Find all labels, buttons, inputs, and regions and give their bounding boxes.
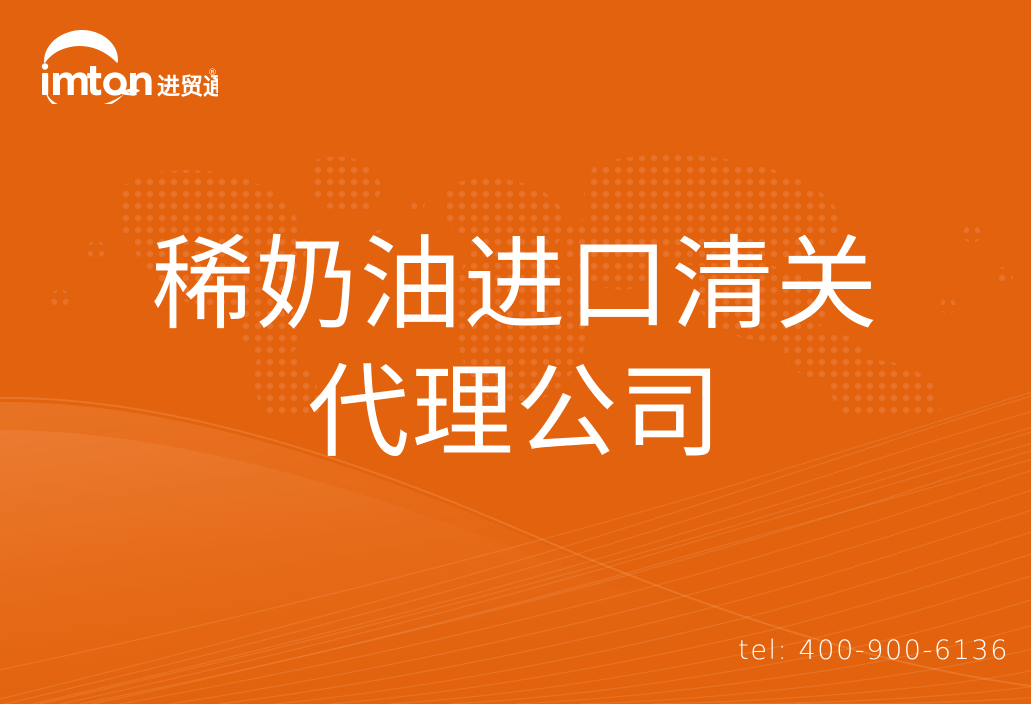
globe-arc-icon — [44, 30, 118, 63]
logo-chinese-name: 进贸通 ® — [157, 68, 218, 100]
contact-phone[interactable]: tel: 400-900-6136 — [738, 635, 1009, 666]
headline-line-2: 代理公司 — [0, 350, 1031, 478]
trademark-symbol: ® — [208, 68, 217, 78]
company-logo[interactable]: 进贸通 ® — [38, 28, 218, 104]
page-title: 稀奶油进口清关 代理公司 — [0, 222, 1031, 478]
promo-banner: 进贸通 ® 稀奶油进口清关 代理公司 tel: 400-900-6136 — [0, 0, 1031, 704]
headline-line-1: 稀奶油进口清关 — [0, 222, 1031, 350]
